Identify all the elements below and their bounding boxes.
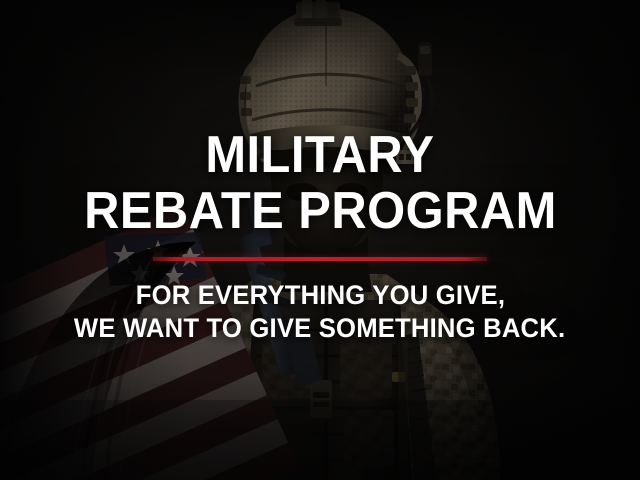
military-rebate-banner: MILITARY REBATE PROGRAM FOR EVERYTHING Y… [0, 0, 640, 480]
soldier-background-image [0, 0, 640, 480]
